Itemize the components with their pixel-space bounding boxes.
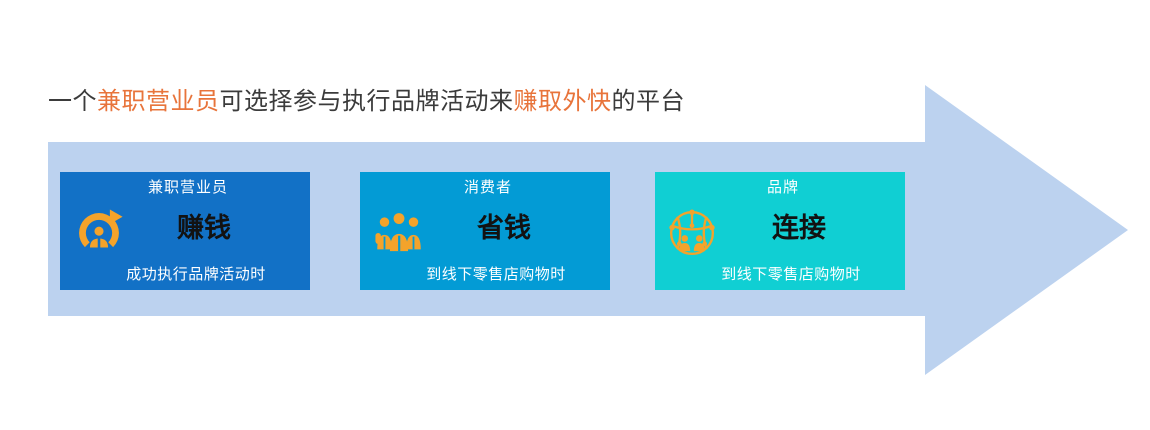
card-main-label: 赚钱 [60, 210, 310, 246]
card-header-label: 消费者 [360, 178, 610, 198]
card-brand[interactable]: 品牌 连接 到线下零售店购物时 [655, 172, 905, 290]
cards-row: 兼职营业员 赚钱 成功执行品牌活动时 消费者 [0, 0, 1150, 430]
card-footer-label: 成功执行品牌活动时 [60, 264, 310, 286]
card-footer-label: 到线下零售店购物时 [360, 264, 610, 286]
card-consumer[interactable]: 消费者 省钱 到线下零售店购物时 [360, 172, 610, 290]
card-footer-label: 到线下零售店购物时 [655, 264, 905, 286]
card-main-label: 连接 [655, 210, 905, 246]
card-main-label: 省钱 [360, 210, 610, 246]
card-header-label: 兼职营业员 [60, 178, 310, 198]
card-header-label: 品牌 [655, 178, 905, 198]
card-part-time-clerk[interactable]: 兼职营业员 赚钱 成功执行品牌活动时 [60, 172, 310, 290]
